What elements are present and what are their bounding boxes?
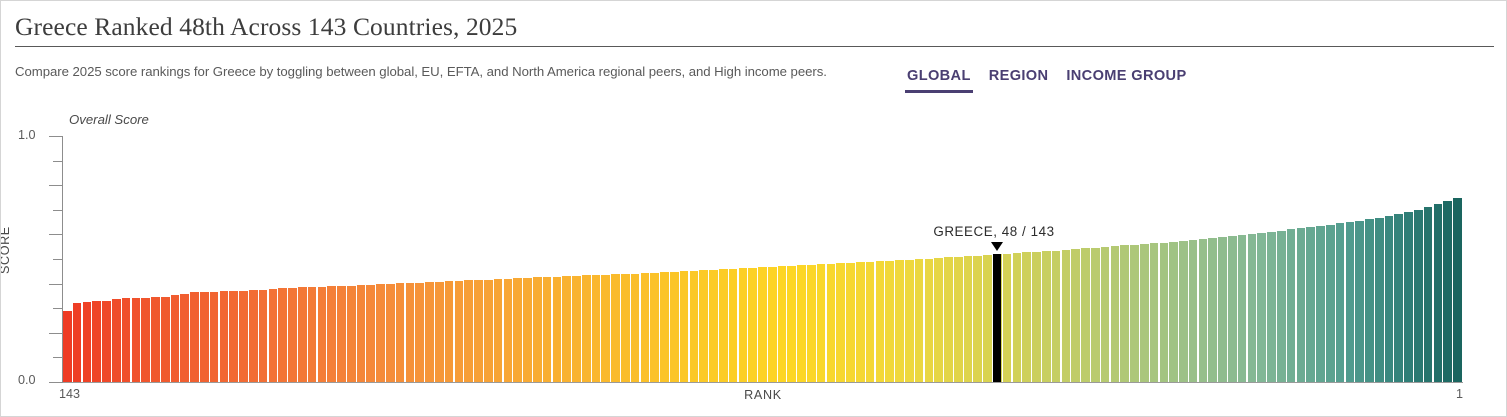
header: Greece Ranked 48th Across 143 Countries,…: [15, 1, 1494, 40]
bar[interactable]: [768, 267, 777, 382]
bar[interactable]: [318, 287, 327, 382]
bar[interactable]: [190, 292, 199, 382]
bar[interactable]: [1404, 212, 1413, 382]
bar[interactable]: [327, 286, 336, 382]
y-tick-major: [49, 284, 62, 285]
y-tick-major: [49, 136, 62, 137]
bar[interactable]: [925, 259, 934, 382]
bar[interactable]: [670, 272, 679, 382]
bar[interactable]: [494, 279, 503, 382]
bar[interactable]: [1130, 245, 1139, 382]
bar[interactable]: [180, 294, 189, 382]
bar[interactable]: [63, 311, 72, 382]
bar[interactable]: [484, 280, 493, 382]
y-axis-min-label: 0.0: [18, 373, 36, 387]
bar[interactable]: [366, 285, 375, 382]
bar[interactable]: [690, 271, 699, 382]
y-tick-major: [49, 234, 62, 235]
bar[interactable]: [269, 289, 278, 382]
bar[interactable]: [406, 283, 415, 382]
bar[interactable]: [1267, 232, 1276, 382]
bar[interactable]: [1238, 235, 1247, 382]
greece-pointer-triangle-icon: [991, 242, 1003, 251]
bar[interactable]: [1287, 229, 1296, 382]
tab-income-group[interactable]: INCOME GROUP: [1064, 61, 1188, 93]
rank-bar-chart: Overall Score SCORE 1.0 0.0 GREECE, 48 /…: [1, 106, 1507, 417]
greece-rank-label: GREECE, 48 / 143: [933, 224, 1054, 239]
visualization-root: Greece Ranked 48th Across 143 Countries,…: [0, 0, 1507, 417]
tab-region[interactable]: REGION: [987, 61, 1051, 93]
bar[interactable]: [1434, 204, 1443, 382]
y-tick-minor: [53, 308, 62, 309]
bar[interactable]: [1306, 227, 1315, 382]
bar[interactable]: [210, 292, 219, 382]
subtitle-and-tabs-row: Compare 2025 score rankings for Greece b…: [15, 61, 1494, 99]
bar[interactable]: [817, 264, 826, 382]
y-tick-minor: [53, 161, 62, 162]
y-tick-minor: [53, 210, 62, 211]
bar[interactable]: [680, 271, 689, 382]
bar[interactable]: [905, 260, 914, 382]
bar[interactable]: [239, 291, 248, 383]
bar[interactable]: [112, 299, 121, 382]
bar[interactable]: [1228, 236, 1237, 382]
bar[interactable]: [797, 265, 806, 382]
bar[interactable]: [611, 274, 620, 382]
bar[interactable]: [1424, 207, 1433, 382]
bar[interactable]: [523, 278, 532, 382]
bar[interactable]: [787, 266, 796, 382]
bar[interactable]: [1346, 222, 1355, 382]
bar[interactable]: [562, 276, 571, 382]
bar[interactable]: [1081, 248, 1090, 382]
bar[interactable]: [1365, 219, 1374, 382]
bar[interactable]: [1022, 252, 1031, 382]
x-axis-title: RANK: [63, 388, 1463, 402]
bar[interactable]: [660, 272, 669, 382]
bar[interactable]: [278, 288, 287, 382]
bar[interactable]: [83, 302, 92, 382]
bar[interactable]: [425, 282, 434, 382]
bar[interactable]: [1385, 216, 1394, 382]
bar[interactable]: [1052, 251, 1061, 382]
bar[interactable]: [533, 277, 542, 382]
bar[interactable]: [474, 280, 483, 382]
y-axis-title: SCORE: [0, 226, 12, 274]
bar[interactable]: [1394, 214, 1403, 382]
bar[interactable]: [543, 277, 552, 382]
bar[interactable]: [200, 292, 209, 382]
bar[interactable]: [572, 276, 581, 382]
bar[interactable]: [435, 282, 444, 382]
bar[interactable]: [1111, 246, 1120, 382]
bar[interactable]: [1189, 240, 1198, 382]
bar[interactable]: [337, 286, 346, 382]
bars-container: GREECE, 48 / 143: [63, 136, 1463, 382]
bar[interactable]: [171, 295, 180, 382]
bar[interactable]: [592, 275, 601, 382]
bar[interactable]: [1316, 226, 1325, 382]
bar[interactable]: [376, 284, 385, 382]
bar[interactable]: [641, 273, 650, 382]
y-tick-minor: [53, 357, 62, 358]
bar[interactable]: [1375, 218, 1384, 382]
page-title: Greece Ranked 48th Across 143 Countries,…: [15, 1, 1494, 40]
bar[interactable]: [357, 285, 366, 382]
bar[interactable]: [1336, 223, 1345, 382]
plot-area: GREECE, 48 / 143: [63, 136, 1463, 382]
bar[interactable]: [1150, 243, 1159, 382]
x-axis-line: [63, 382, 1463, 383]
bar[interactable]: [719, 269, 728, 382]
bar[interactable]: [1443, 201, 1452, 382]
bar[interactable]: [1355, 221, 1364, 382]
bar[interactable]: [1101, 247, 1110, 382]
bar[interactable]: [954, 257, 963, 382]
bar[interactable]: [846, 263, 855, 382]
bar[interactable]: [934, 258, 943, 382]
bar[interactable]: [1062, 250, 1071, 382]
y-tick-major: [49, 333, 62, 334]
bar[interactable]: [1071, 249, 1080, 382]
bar[interactable]: [445, 281, 454, 382]
y-tick-minor: [53, 259, 62, 260]
bar[interactable]: [895, 260, 904, 382]
bar[interactable]: [699, 270, 708, 382]
y-tick-major: [49, 382, 62, 383]
bar[interactable]: [161, 297, 170, 382]
bar[interactable]: [513, 278, 522, 382]
bar[interactable]: [915, 259, 924, 382]
bar[interactable]: [102, 301, 111, 382]
bar[interactable]: [866, 262, 875, 382]
bar[interactable]: [553, 277, 562, 382]
bar[interactable]: [308, 287, 317, 382]
peer-group-tabs: GLOBAL REGION INCOME GROUP: [905, 61, 1189, 93]
bar[interactable]: [1091, 248, 1100, 382]
bar[interactable]: [1140, 244, 1149, 382]
bar[interactable]: [807, 265, 816, 382]
bar[interactable]: [73, 303, 82, 382]
bar[interactable]: [983, 255, 992, 382]
bar[interactable]: [1199, 239, 1208, 382]
bar[interactable]: [944, 257, 953, 382]
bar[interactable]: [631, 274, 640, 382]
bar[interactable]: [964, 256, 973, 382]
bar[interactable]: [1218, 237, 1227, 382]
bar[interactable]: [601, 275, 610, 382]
overall-score-caption: Overall Score: [69, 112, 149, 127]
bar[interactable]: [288, 288, 297, 382]
bar[interactable]: [347, 286, 356, 382]
bar[interactable]: [856, 262, 865, 382]
bar[interactable]: [758, 267, 767, 382]
bar[interactable]: [1326, 225, 1335, 382]
bar[interactable]: [259, 290, 268, 382]
bar[interactable]: [1453, 198, 1462, 382]
bar[interactable]: [582, 275, 591, 382]
bar[interactable]: [709, 270, 718, 382]
bar[interactable]: [1013, 253, 1022, 382]
y-axis-max-label: 1.0: [18, 128, 36, 142]
bar[interactable]: [1208, 238, 1217, 382]
bar[interactable]: [504, 279, 513, 382]
bar[interactable]: [876, 261, 885, 382]
bar[interactable]: [778, 266, 787, 382]
title-divider: [15, 46, 1494, 47]
bar[interactable]: [748, 268, 757, 382]
bar[interactable]: [729, 269, 738, 382]
bar[interactable]: [1169, 242, 1178, 382]
bar[interactable]: [1160, 243, 1169, 382]
bar[interactable]: [1032, 252, 1041, 382]
bar[interactable]: [827, 264, 836, 382]
bar[interactable]: [151, 297, 160, 382]
bar[interactable]: [1277, 231, 1286, 382]
bar[interactable]: [1179, 241, 1188, 382]
bar[interactable]: [1248, 234, 1257, 382]
bar[interactable]: [836, 263, 845, 382]
tab-global[interactable]: GLOBAL: [905, 61, 973, 93]
bar[interactable]: [621, 274, 630, 382]
bar[interactable]: [220, 291, 229, 382]
bar[interactable]: [132, 298, 141, 382]
bar[interactable]: [885, 261, 894, 382]
bar[interactable]: [464, 280, 473, 382]
bar[interactable]: [1257, 233, 1266, 382]
bar[interactable]: [1042, 251, 1051, 382]
bar[interactable]: [973, 256, 982, 382]
bar[interactable]: [386, 284, 395, 382]
bar[interactable]: [455, 281, 464, 382]
bar[interactable]: [1414, 210, 1423, 382]
bar[interactable]: [1297, 228, 1306, 382]
chart-subtitle: Compare 2025 score rankings for Greece b…: [15, 64, 827, 79]
bar[interactable]: [92, 301, 101, 382]
bar[interactable]: [396, 283, 405, 382]
bar[interactable]: [229, 291, 238, 382]
bar[interactable]: [122, 298, 131, 382]
y-tick-major: [49, 185, 62, 186]
bar[interactable]: [1120, 245, 1129, 382]
bar[interactable]: [249, 290, 258, 382]
bar[interactable]: [298, 287, 307, 382]
bar[interactable]: [1003, 254, 1012, 382]
bar[interactable]: [141, 298, 150, 382]
bar[interactable]: [650, 273, 659, 382]
bar[interactable]: [739, 268, 748, 382]
greece-highlight-bar[interactable]: [993, 254, 1001, 382]
bar[interactable]: [415, 283, 424, 382]
